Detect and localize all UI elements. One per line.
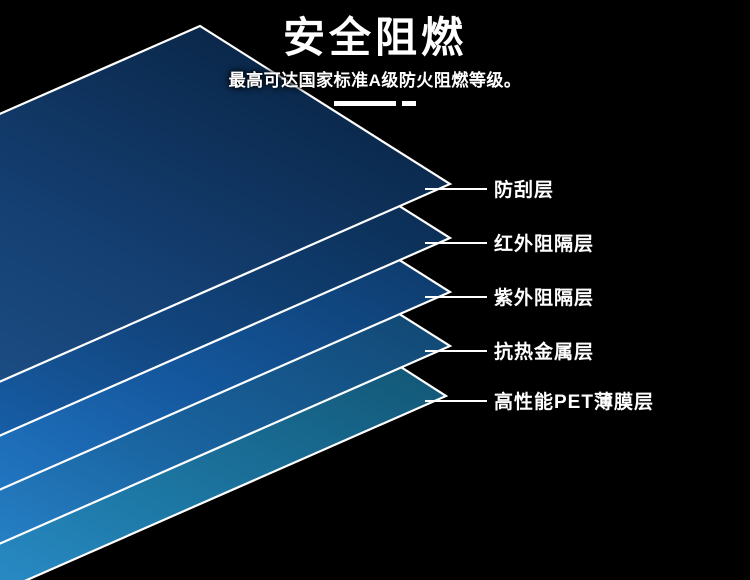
- callout-uv-block: 紫外阻隔层: [425, 283, 594, 310]
- film-layer-stack-diagram: [0, 0, 750, 580]
- callout-label: 防刮层: [494, 175, 554, 202]
- callout-label: 抗热金属层: [494, 337, 594, 364]
- promo-banner: 安全阻燃 最高可达国家标准A级防火阻燃等级。 防刮层 红外阻隔层 紫外阻隔层 抗…: [0, 0, 750, 580]
- leader-line-icon: [425, 242, 487, 244]
- callout-scratch-resist: 防刮层: [425, 175, 554, 202]
- callout-heat-metal: 抗热金属层: [425, 337, 594, 364]
- callout-label: 红外阻隔层: [494, 229, 594, 256]
- leader-line-icon: [425, 350, 487, 352]
- leader-line-icon: [425, 296, 487, 298]
- leader-line-icon: [425, 400, 487, 402]
- callout-pet-film: 高性能PET薄膜层: [425, 387, 654, 414]
- leader-line-icon: [425, 188, 487, 190]
- callout-ir-block: 红外阻隔层: [425, 229, 594, 256]
- callout-label: 紫外阻隔层: [494, 283, 594, 310]
- callout-label: 高性能PET薄膜层: [494, 387, 654, 414]
